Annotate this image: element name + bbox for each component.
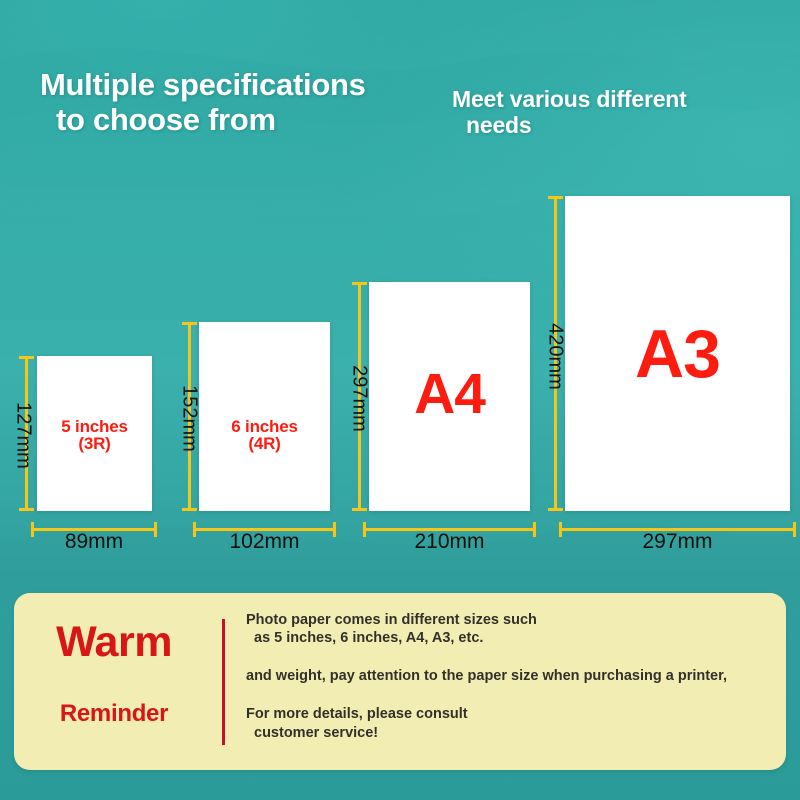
- headline-secondary-line1: Meet various different: [452, 86, 687, 112]
- paper-sheet-4r: 6 inches (4R): [199, 322, 330, 511]
- reminder-paragraph-3-line1: For more details, please consult: [246, 706, 468, 722]
- headline-primary-line1: Multiple specifications: [40, 67, 366, 102]
- headline-secondary-line2: needs: [452, 112, 752, 138]
- paper-sheet-a4: A4: [369, 282, 530, 511]
- headline-secondary: Meet various different needs: [452, 86, 752, 138]
- paper-sheet-a3: A3: [565, 196, 790, 511]
- dimension-label-width-3r: 89mm: [31, 530, 157, 554]
- reminder-paragraph-1-line1: Photo paper comes in different sizes suc…: [246, 612, 537, 628]
- reminder-paragraph-2-line1: and weight, pay attention to the paper s…: [246, 668, 727, 684]
- reminder-paragraph-3-line2: customer service!: [246, 724, 774, 742]
- reminder-paragraph-1-line2: as 5 inches, 6 inches, A4, A3, etc.: [246, 629, 774, 647]
- warm-reminder-panel: Warm Reminder Photo paper comes in diffe…: [14, 593, 786, 770]
- paper-label-a3: A3: [565, 320, 790, 388]
- dimension-label-width-a4: 210mm: [363, 530, 536, 554]
- dimension-label-height-a4: 297mm: [348, 354, 371, 444]
- panel-divider: [222, 619, 225, 745]
- reminder-paragraph-1: Photo paper comes in different sizes suc…: [246, 611, 774, 647]
- dimension-label-height-a3: 420mm: [544, 312, 567, 402]
- reminder-paragraph-3: For more details, please consult custome…: [246, 705, 774, 741]
- paper-label-3r: 5 inches (3R): [37, 418, 152, 452]
- paper-label-4r: 6 inches (4R): [199, 418, 330, 452]
- paper-label-a4: A4: [369, 366, 530, 423]
- headline-primary: Multiple specifications to choose from: [40, 68, 440, 137]
- warm-reminder-body: Photo paper comes in different sizes suc…: [246, 611, 774, 762]
- dimension-label-height-3r: 127mm: [12, 391, 35, 481]
- poster-canvas: Multiple specifications to choose from M…: [0, 0, 800, 800]
- paper-sheet-3r: 5 inches (3R): [37, 356, 152, 511]
- reminder-paragraph-2: and weight, pay attention to the paper s…: [246, 667, 774, 685]
- warm-reminder-title-line2: Reminder: [14, 702, 214, 726]
- warm-reminder-title: Warm Reminder: [14, 621, 214, 726]
- dimension-label-width-4r: 102mm: [193, 530, 336, 554]
- headline-primary-line2: to choose from: [40, 103, 440, 138]
- dimension-label-width-a3: 297mm: [559, 530, 796, 554]
- warm-reminder-title-line1: Warm: [14, 621, 214, 664]
- dimension-label-height-4r: 152mm: [178, 374, 201, 464]
